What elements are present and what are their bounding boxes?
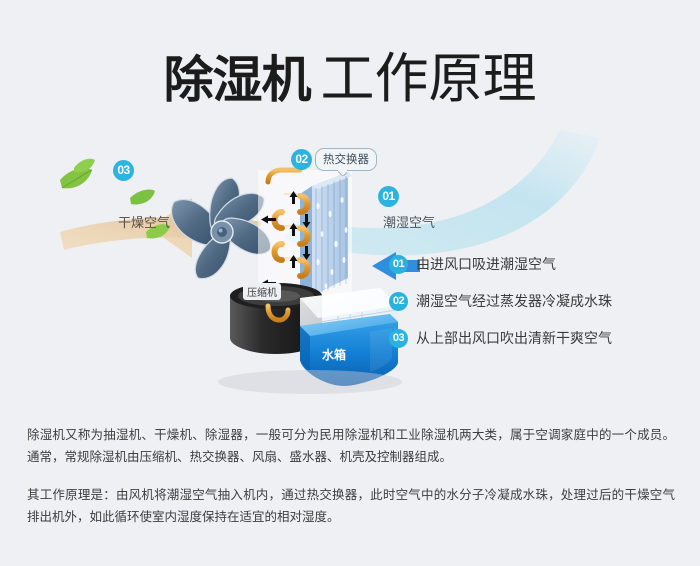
- step-number-badge: 03: [389, 329, 408, 348]
- label-compressor: 压缩机: [243, 283, 281, 300]
- steps-list: 01 由进风口吸进潮湿空气 02 潮湿空气经过蒸发器冷凝成水珠 03 从上部出风…: [389, 255, 689, 366]
- label-dry-air: 干燥空气: [118, 212, 170, 231]
- fan-icon: [172, 178, 271, 279]
- step-text: 从上部出风口吹出清新干爽空气: [416, 329, 612, 348]
- callout-heat-exchanger-label: 热交换器: [323, 154, 369, 166]
- description-block: 除湿机又称为抽湿机、干燥机、除湿器，一般可分为民用除湿机和工业除湿机两大类，属于…: [27, 424, 675, 528]
- label-water-tank: 水箱: [322, 346, 346, 363]
- callout-heat-exchanger: 热交换器: [315, 148, 377, 171]
- title-part-2: 工作原理: [321, 49, 537, 109]
- badge-heat-exchanger: 02: [291, 149, 312, 170]
- paragraph-1: 除湿机又称为抽湿机、干燥机、除湿器，一般可分为民用除湿机和工业除湿机两大类，属于…: [27, 424, 675, 468]
- page-title: 除湿机工作原理: [0, 34, 700, 113]
- paragraph-2: 其工作原理是：由风机将潮湿空气抽入机内，通过热交换器，此时空气中的水分子冷凝成水…: [27, 484, 675, 528]
- step-number-badge: 02: [389, 292, 408, 311]
- callout-tail: [338, 170, 347, 176]
- label-humid-air: 潮湿空气: [383, 212, 435, 231]
- step-text: 潮湿空气经过蒸发器冷凝成水珠: [416, 292, 612, 311]
- badge-dry-air: 03: [113, 160, 134, 181]
- infographic-page: 除湿机工作原理: [0, 0, 700, 566]
- ground-shadow: [218, 370, 402, 394]
- step-number-badge: 01: [389, 255, 408, 274]
- list-item: 01 由进风口吸进潮湿空气: [389, 255, 689, 274]
- step-text: 由进风口吸进潮湿空气: [416, 255, 556, 274]
- list-item: 03 从上部出风口吹出清新干爽空气: [389, 329, 689, 348]
- title-part-1: 除湿机: [164, 52, 311, 108]
- badge-humid-air: 01: [378, 186, 399, 207]
- list-item: 02 潮湿空气经过蒸发器冷凝成水珠: [389, 292, 689, 311]
